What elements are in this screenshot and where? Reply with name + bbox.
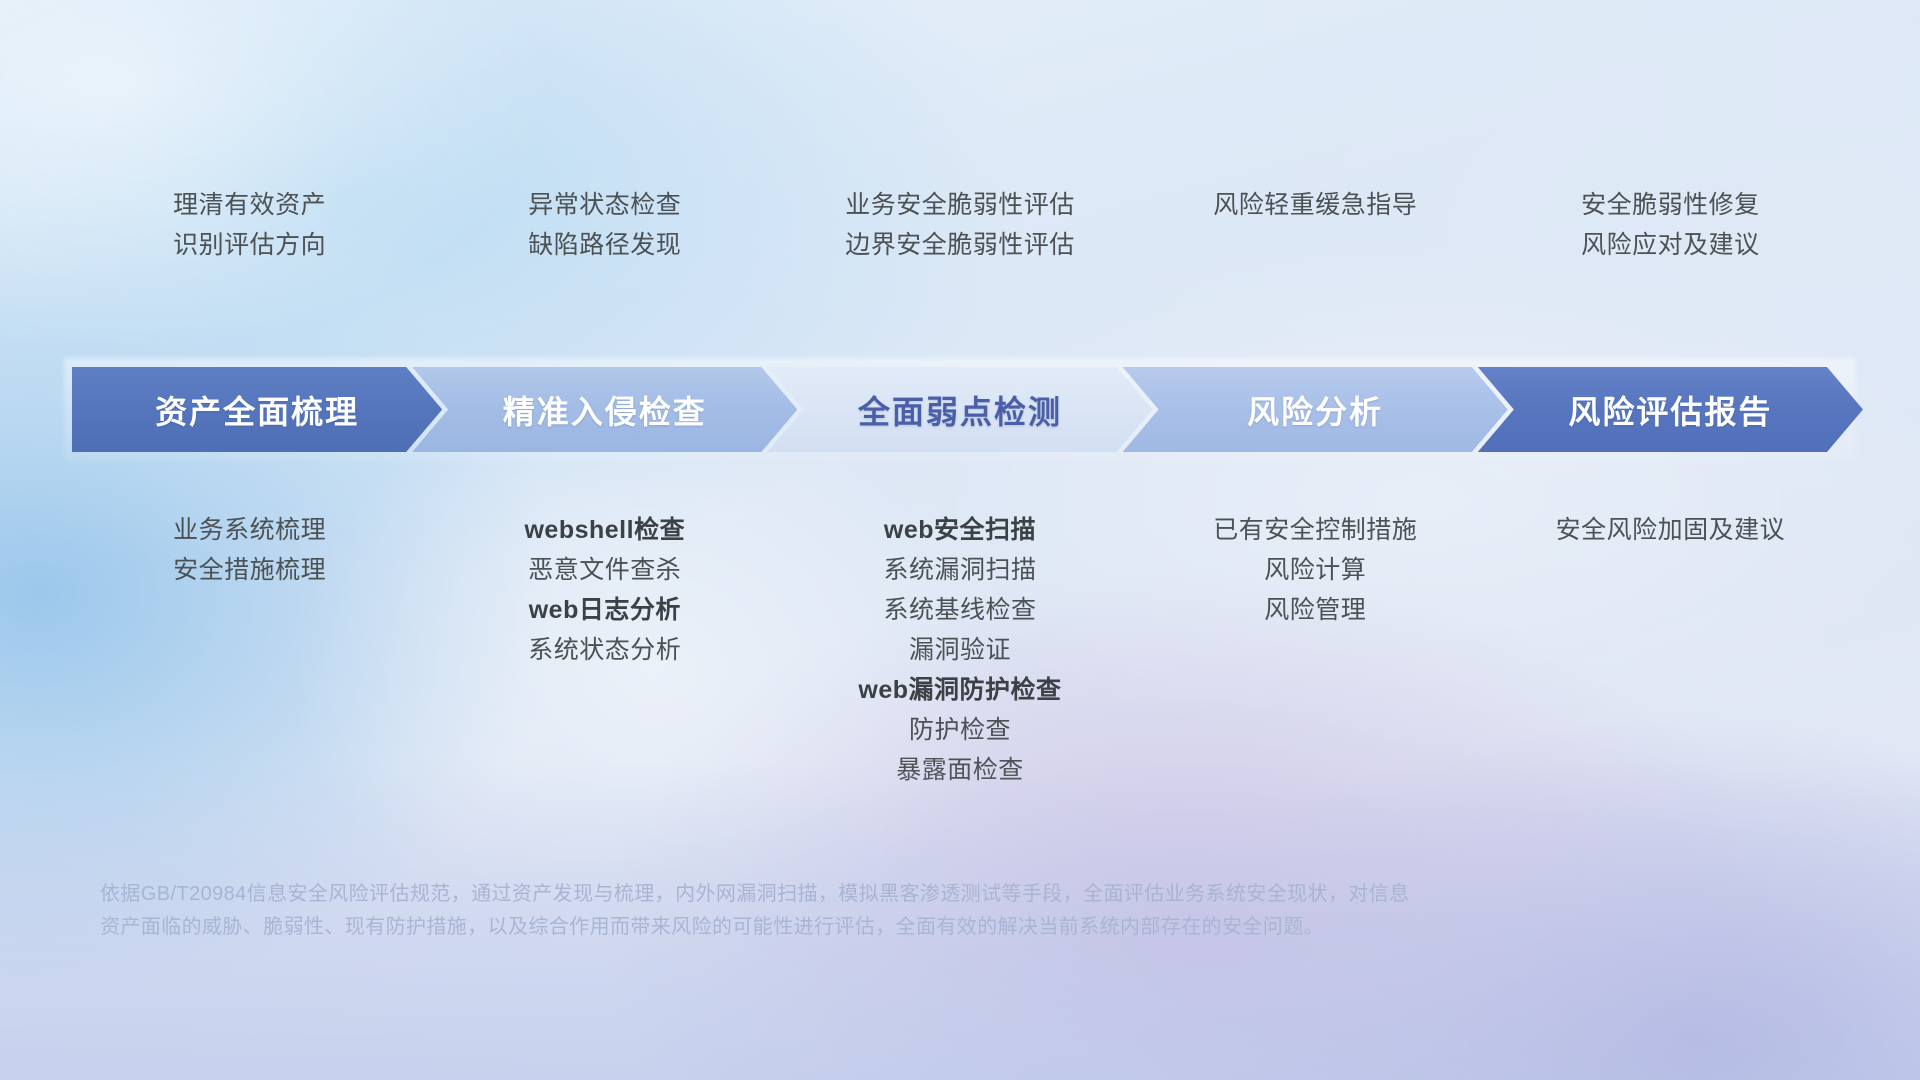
bottom-note: 系统基线检查 [782,590,1137,630]
chevron-label: 全面弱点检测 [858,387,1062,433]
bottom-notes-column-weakness-detection: web安全扫描系统漏洞扫描系统基线检查漏洞验证web漏洞防护检查防护检查暴露面检… [782,510,1137,790]
bottom-note: 已有安全控制措施 [1138,510,1493,550]
top-note: 业务安全脆弱性评估 [782,185,1137,225]
bottom-note: 风险计算 [1138,550,1493,590]
chevron-label: 风险分析 [1247,387,1383,433]
bottom-notes-column-intrusion-check: webshell检查恶意文件查杀web日志分析系统状态分析 [427,510,782,670]
chevron-label: 风险评估报告 [1568,387,1772,433]
bottom-note: 安全风险加固及建议 [1493,510,1848,550]
footer-description: 依据GB/T20984信息安全风险评估规范，通过资产发现与梳理，内外网漏洞扫描，… [100,878,1620,944]
chevron-label: 资产全面梳理 [155,387,359,433]
chevron-stage-risk-analysis[interactable]: 风险分析 [1123,367,1508,452]
chevron-stage-asset-inventory[interactable]: 资产全面梳理 [72,367,442,452]
bottom-notes-column-risk-analysis: 已有安全控制措施风险计算风险管理 [1138,510,1493,630]
top-note: 识别评估方向 [72,225,427,265]
bottom-notes-band: 业务系统梳理安全措施梳理webshell检查恶意文件查杀web日志分析系统状态分… [72,510,1848,790]
process-chevron-bar: 资产全面梳理精准入侵检查全面弱点检测风险分析风险评估报告 [72,367,1848,452]
bottom-note: 暴露面检查 [782,750,1137,790]
bottom-note: 防护检查 [782,710,1137,750]
bottom-note: 恶意文件查杀 [427,550,782,590]
footer-line-2: 资产面临的威胁、脆弱性、现有防护措施，以及综合作用而带来风险的可能性进行评估，全… [100,911,1620,944]
bottom-note: web安全扫描 [782,510,1137,550]
bottom-note: 安全措施梳理 [72,550,427,590]
bottom-note: 系统漏洞扫描 [782,550,1137,590]
chevron-stage-weakness-detection[interactable]: 全面弱点检测 [767,367,1152,452]
top-notes-band: 理清有效资产识别评估方向异常状态检查缺陷路径发现业务安全脆弱性评估边界安全脆弱性… [72,185,1848,265]
chevron-stage-assessment-report[interactable]: 风险评估报告 [1478,367,1863,452]
top-note: 安全脆弱性修复 [1493,185,1848,225]
footer-line-1: 依据GB/T20984信息安全风险评估规范，通过资产发现与梳理，内外网漏洞扫描，… [100,878,1620,911]
top-notes-column-intrusion-check: 异常状态检查缺陷路径发现 [427,185,782,265]
bottom-note: 系统状态分析 [427,630,782,670]
top-notes-column-assessment-report: 安全脆弱性修复风险应对及建议 [1493,185,1848,265]
chevron-label: 精准入侵检查 [503,387,707,433]
top-notes-column-weakness-detection: 业务安全脆弱性评估边界安全脆弱性评估 [782,185,1137,265]
chevron-stage-intrusion-check[interactable]: 精准入侵检查 [412,367,797,452]
top-note: 理清有效资产 [72,185,427,225]
top-notes-column-risk-analysis: 风险轻重缓急指导 [1138,185,1493,265]
top-note: 缺陷路径发现 [427,225,782,265]
bottom-note: 风险管理 [1138,590,1493,630]
bottom-notes-column-assessment-report: 安全风险加固及建议 [1493,510,1848,550]
bottom-notes-column-asset-inventory: 业务系统梳理安全措施梳理 [72,510,427,590]
slide-canvas: 理清有效资产识别评估方向异常状态检查缺陷路径发现业务安全脆弱性评估边界安全脆弱性… [0,0,1920,1080]
top-notes-column-asset-inventory: 理清有效资产识别评估方向 [72,185,427,265]
bottom-note: 漏洞验证 [782,630,1137,670]
top-note: 风险应对及建议 [1493,225,1848,265]
bottom-note: webshell检查 [427,510,782,550]
bottom-note: web漏洞防护检查 [782,670,1137,710]
top-note: 风险轻重缓急指导 [1138,185,1493,225]
bottom-note: web日志分析 [427,590,782,630]
top-note: 异常状态检查 [427,185,782,225]
top-note: 边界安全脆弱性评估 [782,225,1137,265]
bottom-note: 业务系统梳理 [72,510,427,550]
